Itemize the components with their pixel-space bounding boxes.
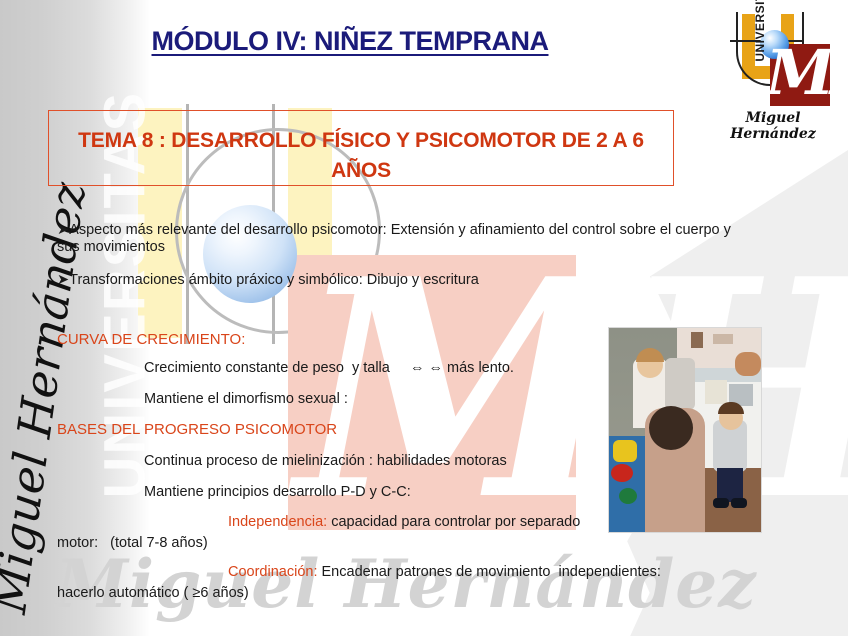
photo-toy-red xyxy=(611,464,633,482)
subpoint-1-continuation: motor: (total 7-8 años) xyxy=(57,535,208,552)
photo-toy-yellow xyxy=(613,440,637,462)
section-1-item-2: Mantiene el dimorfismo sexual : xyxy=(144,391,348,408)
classroom-photo xyxy=(608,327,762,533)
bullet-item-1: ➤Aspecto más relevante del desarrollo ps… xyxy=(57,222,757,256)
subpoint-2-text: Encadenar patrones de movimiento indepen… xyxy=(317,564,660,580)
photo-cabinet-detail-a xyxy=(691,332,703,348)
subpoint-2: Coordinación: Encadenar patrones de movi… xyxy=(228,564,661,581)
section-2-item-1: Continua proceso de mielinización : habi… xyxy=(144,453,507,470)
bullet-marker-1: ➤ xyxy=(57,222,69,238)
subpoint-2-continuation: hacerlo automático ( ≥6 años) xyxy=(57,585,249,602)
photo-counter-object xyxy=(705,380,727,404)
subpoint-1-text: capacidad para controlar por separado xyxy=(327,514,580,530)
photo-cabinet-detail-b xyxy=(713,334,733,344)
subpoint-1-label: Independencia: xyxy=(228,514,327,530)
bullet-item-2: ➤Transformaciones ámbito práxico y simbó… xyxy=(57,272,479,289)
slide-canvas: MH UNIVERSITAS Miguel Hernández Miguel H… xyxy=(0,0,848,636)
photo-child-right-legs xyxy=(717,468,743,502)
photo-hand-top-right xyxy=(735,352,761,376)
section-1-item-1: Crecimiento constante de peso y talla ⇔ … xyxy=(144,360,514,377)
slide-foreground: MÓDULO IV: NIÑEZ TEMPRANA MH UNIVERSITAS… xyxy=(0,0,848,636)
section-heading-2: BASES DEL PROGRESO PSICOMOTOR xyxy=(57,421,337,438)
photo-child-right-shoe-r xyxy=(731,498,747,508)
bullet-text-1: Aspecto más relevante del desarrollo psi… xyxy=(57,222,731,255)
subpoint-2-label: Coordinación: xyxy=(228,564,317,580)
section-heading-1: CURVA DE CRECIMIENTO: xyxy=(57,331,245,348)
photo-adult-head xyxy=(649,406,693,450)
section-2-item-2: Mantiene principios desarrollo P-D y C-C… xyxy=(144,484,411,501)
photo-toy-green xyxy=(619,488,637,504)
bullet-text-2: Transformaciones ámbito práxico y simból… xyxy=(69,272,479,288)
bullet-marker-2: ➤ xyxy=(57,272,69,288)
photo-puppet xyxy=(665,358,695,410)
slide-body: ➤Aspecto más relevante del desarrollo ps… xyxy=(0,0,848,636)
photo-child-right-shoe-l xyxy=(713,498,729,508)
subpoint-1: Independencia: capacidad para controlar … xyxy=(228,514,580,531)
